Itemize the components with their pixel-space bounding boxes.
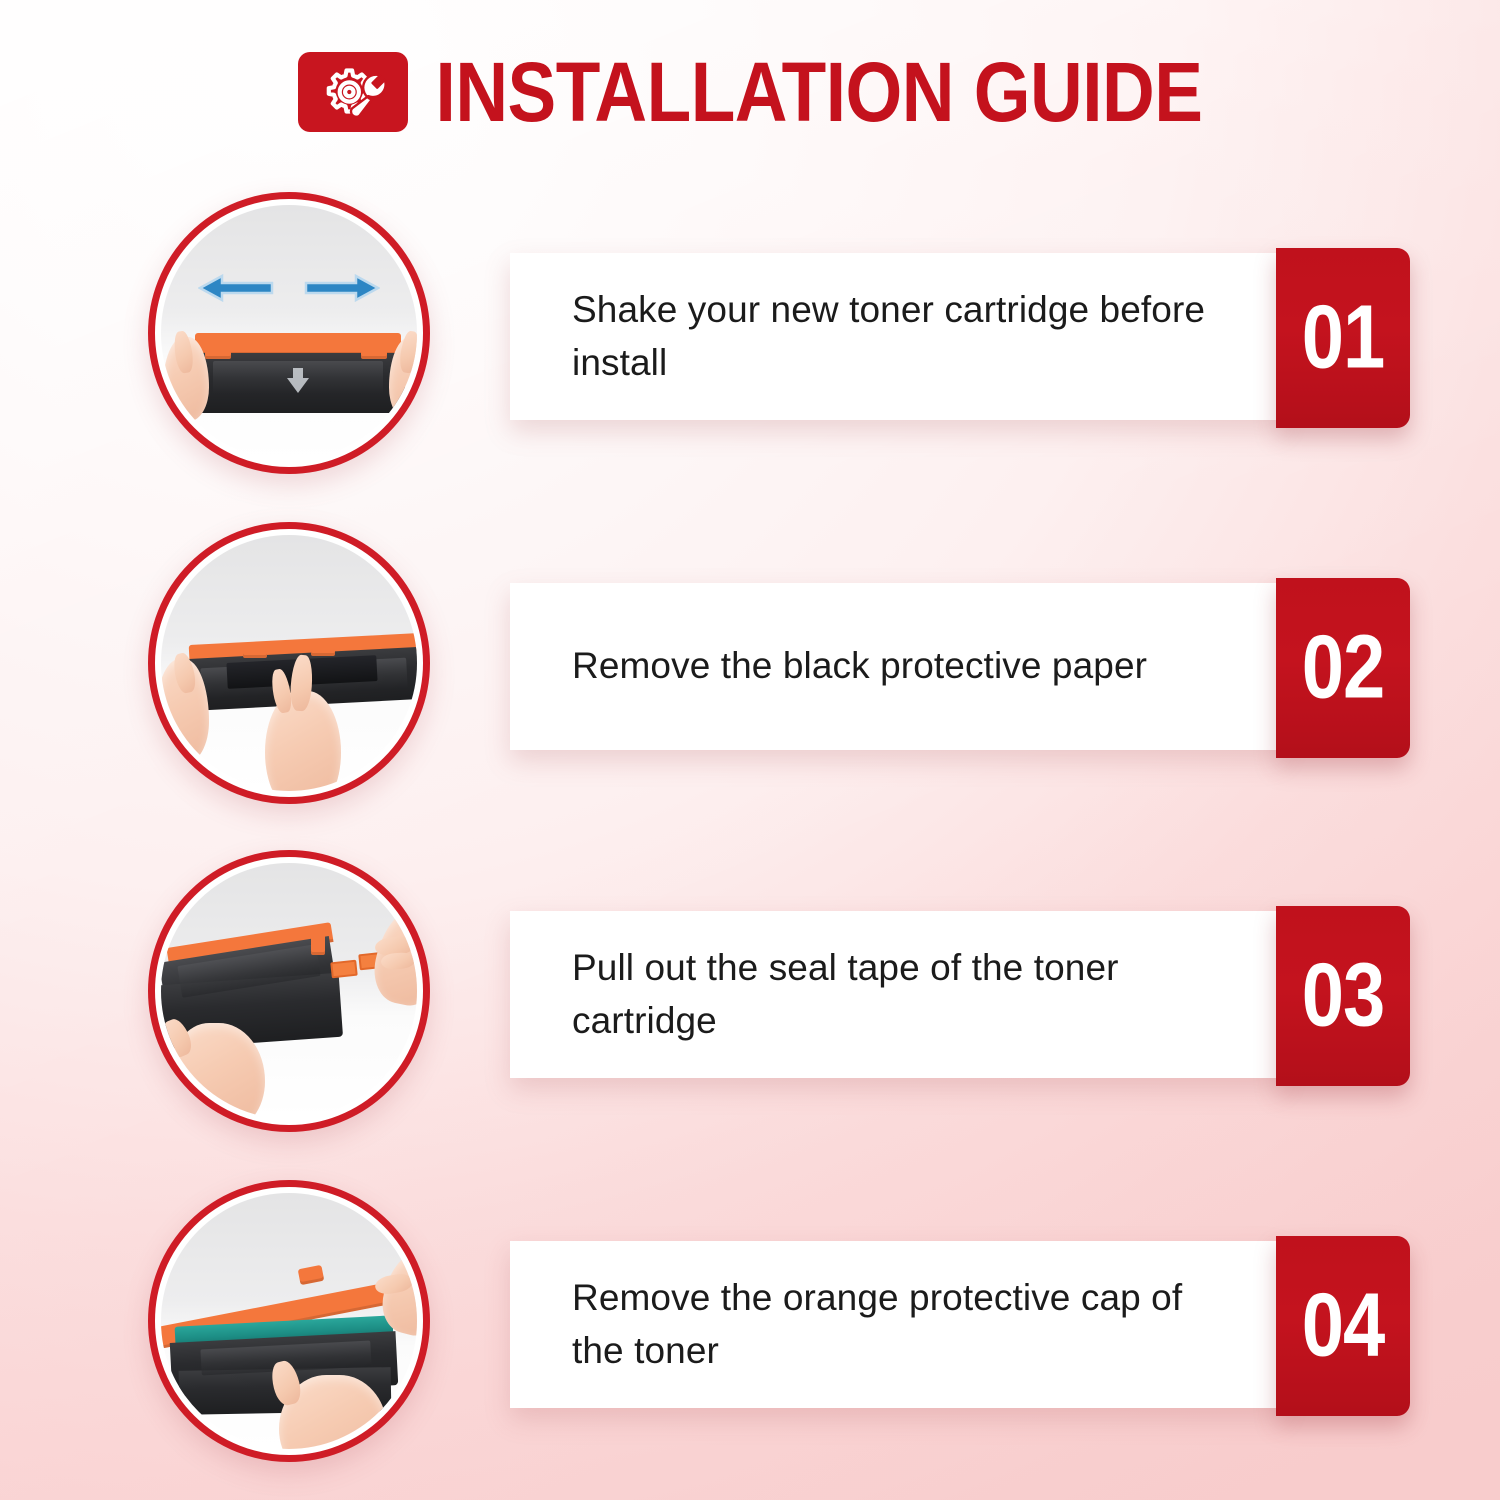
remove-black-paper-photo	[148, 522, 430, 804]
step-number-badge: 01	[1276, 248, 1410, 428]
toner-shake-photo	[148, 192, 430, 474]
page-header: INSTALLATION GUIDE	[0, 52, 1500, 132]
step-number: 03	[1302, 951, 1385, 1041]
step-number: 04	[1302, 1281, 1385, 1371]
step-card-body: Remove the black protective paper	[510, 583, 1282, 750]
arrow-right-icon	[304, 273, 380, 303]
step-card-body: Shake your new toner cartridge before in…	[510, 253, 1282, 420]
step-card-1[interactable]: Shake your new toner cartridge before in…	[510, 248, 1410, 428]
step-text: Remove the black protective paper	[572, 640, 1147, 693]
step-text: Remove the orange protective cap of the …	[572, 1272, 1244, 1377]
step-text: Pull out the seal tape of the toner cart…	[572, 942, 1244, 1047]
step-number-badge: 03	[1276, 906, 1410, 1086]
step-row-3: Pull out the seal tape of the toner cart…	[0, 828, 1500, 1158]
installation-guide-page: INSTALLATION GUIDE	[0, 0, 1500, 1500]
step-number: 01	[1302, 293, 1385, 383]
step-number: 02	[1302, 623, 1385, 713]
step-card-3[interactable]: Pull out the seal tape of the toner cart…	[510, 906, 1410, 1086]
step-row-1: Shake your new toner cartridge before in…	[0, 170, 1500, 500]
step-card-4[interactable]: Remove the orange protective cap of the …	[510, 1236, 1410, 1416]
step-row-2: Remove the black protective paper 02	[0, 500, 1500, 830]
step-card-2[interactable]: Remove the black protective paper 02	[510, 578, 1410, 758]
step-card-body: Remove the orange protective cap of the …	[510, 1241, 1282, 1408]
page-title: INSTALLATION GUIDE	[436, 50, 1203, 135]
gear-wrench-icon	[298, 52, 408, 132]
step-row-4: Remove the orange protective cap of the …	[0, 1158, 1500, 1488]
arrow-left-icon	[198, 273, 274, 303]
pull-seal-tape-photo	[148, 850, 430, 1132]
step-number-badge: 02	[1276, 578, 1410, 758]
remove-orange-cap-photo	[148, 1180, 430, 1462]
step-number-badge: 04	[1276, 1236, 1410, 1416]
step-text: Shake your new toner cartridge before in…	[572, 284, 1244, 389]
step-card-body: Pull out the seal tape of the toner cart…	[510, 911, 1282, 1078]
